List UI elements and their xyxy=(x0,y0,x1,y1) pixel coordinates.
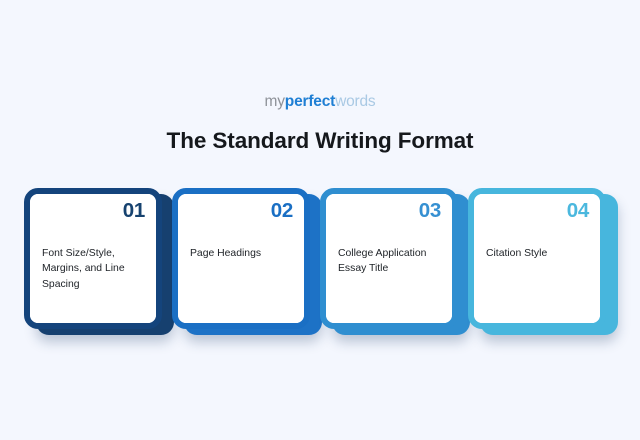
cards-row: 01 Font Size/Style, Margins, and Line Sp… xyxy=(24,188,624,336)
card-content: 02 Page Headings xyxy=(178,194,304,323)
card-item: 03 College Application Essay Title xyxy=(320,188,458,329)
card-label: Font Size/Style, Margins, and Line Spaci… xyxy=(42,246,147,292)
card-item: 01 Font Size/Style, Margins, and Line Sp… xyxy=(24,188,162,329)
card-front: 01 Font Size/Style, Margins, and Line Sp… xyxy=(24,188,162,329)
card-item: 02 Page Headings xyxy=(172,188,310,329)
card-item: 04 Citation Style xyxy=(468,188,606,329)
brand-logo: myperfectwords xyxy=(0,94,640,110)
card-content: 03 College Application Essay Title xyxy=(326,194,452,323)
card-label: College Application Essay Title xyxy=(338,246,443,277)
card-front: 04 Citation Style xyxy=(468,188,606,329)
logo-text-my: my xyxy=(265,93,285,110)
logo-text-words: words xyxy=(335,93,375,110)
infographic-canvas: myperfectwords The Standard Writing Form… xyxy=(0,0,640,440)
card-front: 02 Page Headings xyxy=(172,188,310,329)
card-front: 03 College Application Essay Title xyxy=(320,188,458,329)
logo-text-perfect: perfect xyxy=(285,93,335,110)
card-content: 04 Citation Style xyxy=(474,194,600,323)
card-label: Page Headings xyxy=(190,246,295,261)
card-number: 01 xyxy=(123,201,145,222)
card-number: 03 xyxy=(419,201,441,222)
card-number: 04 xyxy=(567,201,589,222)
card-content: 01 Font Size/Style, Margins, and Line Sp… xyxy=(30,194,156,323)
card-label: Citation Style xyxy=(486,246,591,261)
card-number: 02 xyxy=(271,201,293,222)
page-title: The Standard Writing Format xyxy=(0,128,640,154)
